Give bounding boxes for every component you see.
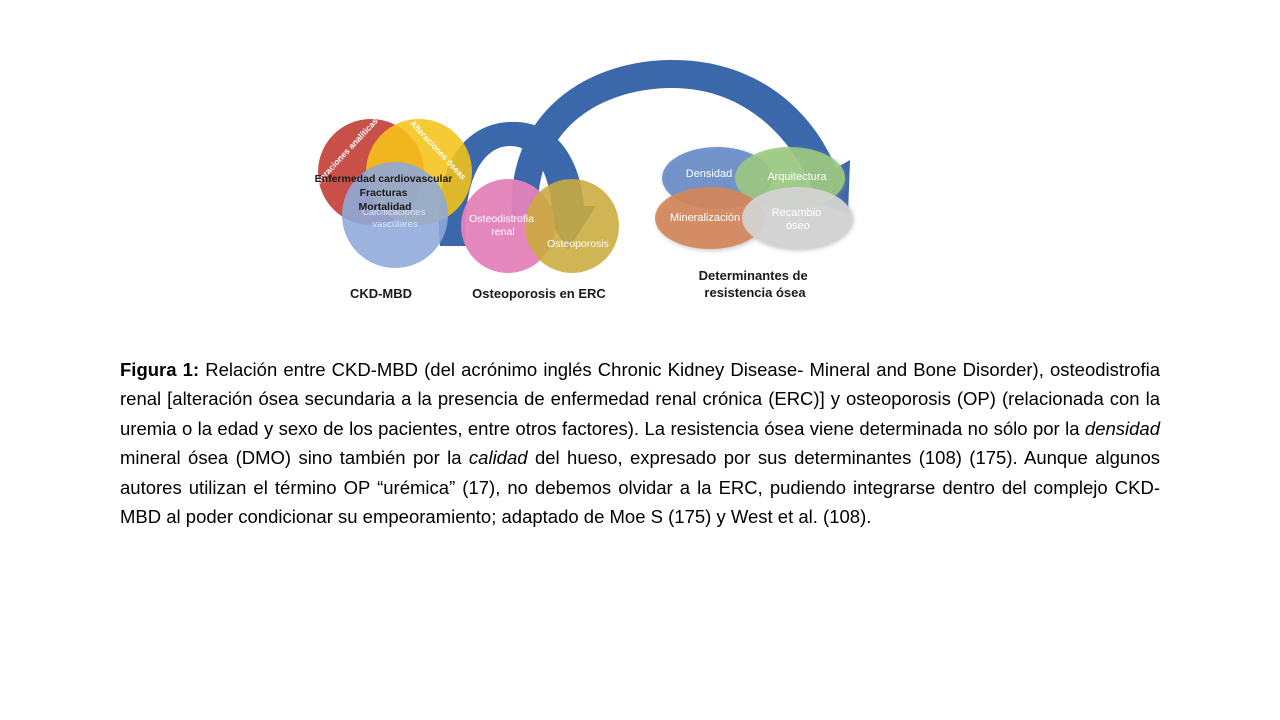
caption-lead: Figura 1: — [120, 359, 199, 380]
label-osteoporosis: Osteoporosis — [547, 238, 609, 250]
caption-text-2: mineral ósea (DMO) sino también por la — [120, 447, 469, 468]
venn-diagram-svg: Alteraciones analíticas Alteraciones óse… — [0, 0, 1280, 320]
figure-caption: Figura 1: Relación entre CKD-MBD (del ac… — [120, 355, 1160, 532]
label-arquitectura: Arquitectura — [767, 171, 827, 183]
label-densidad: Densidad — [686, 168, 732, 180]
panel-ckd-mbd: Alteraciones analíticas Alteraciones óse… — [310, 116, 472, 301]
caption-italic-densidad: densidad — [1085, 418, 1160, 439]
figure-illustration: Alteraciones analíticas Alteraciones óse… — [0, 0, 1280, 320]
caption-italic-calidad: calidad — [469, 447, 528, 468]
panel-caption-determinantes: Determinantes de resistencia ósea — [699, 268, 812, 300]
panel-caption-determinantes-line1: Determinantes de — [699, 268, 808, 283]
circle-osteoporosis — [525, 179, 619, 273]
panel-caption-osteoporosis-en-erc: Osteoporosis en ERC — [472, 286, 606, 301]
caption-text-1: Relación entre CKD-MBD (del acrónimo ing… — [120, 359, 1160, 439]
panel-caption-ckd-mbd: CKD-MBD — [350, 286, 412, 301]
panel-determinantes-resistencia-osea: Densidad Arquitectura Mineralización Rec… — [655, 147, 852, 300]
panel-osteoporosis-en-erc: Osteodistrofia renal Osteoporosis Osteop… — [461, 179, 619, 301]
panel-caption-determinantes-line2: resistencia ósea — [704, 285, 806, 300]
figure-page: Alteraciones analíticas Alteraciones óse… — [0, 0, 1280, 720]
label-mineralizacion: Mineralización — [670, 212, 740, 224]
